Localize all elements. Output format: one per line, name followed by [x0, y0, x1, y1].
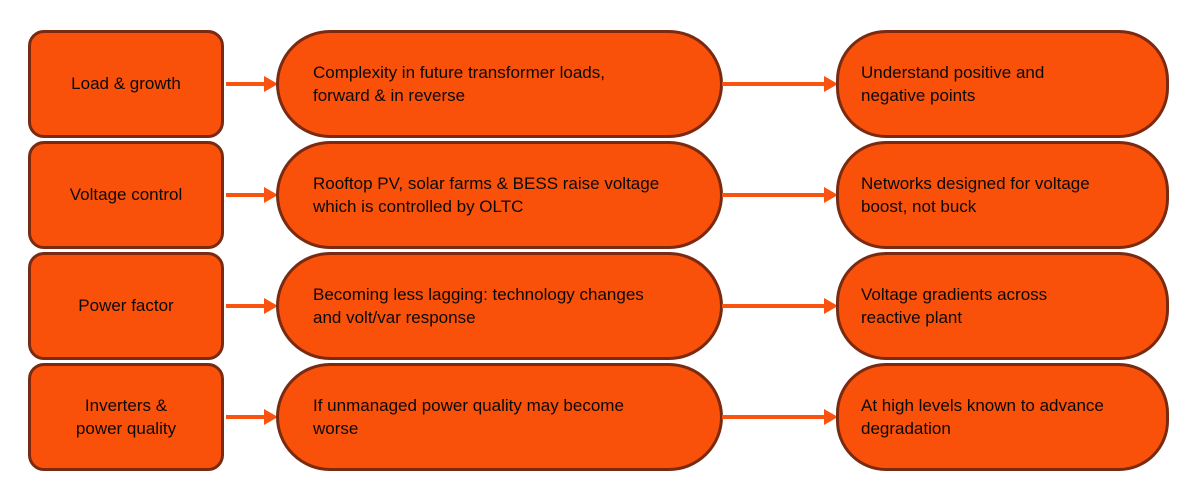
impact-node-3[interactable]: Voltage gradients across reactive plant — [836, 252, 1169, 360]
arrow-right-icon-4a — [226, 407, 278, 427]
category-node-2[interactable]: Voltage control — [28, 141, 224, 249]
arrow-right-icon-4b — [722, 407, 838, 427]
impact-node-4[interactable]: At high levels known to advance degradat… — [836, 363, 1169, 471]
issue-node-1[interactable]: Complexity in future transformer loads, … — [276, 30, 723, 138]
impact-node-2[interactable]: Networks designed for voltage boost, not… — [836, 141, 1169, 249]
arrow-right-icon-3a — [226, 296, 278, 316]
process-diagram: Load & growth Complexity in future trans… — [0, 0, 1198, 503]
arrow-right-icon-2a — [226, 185, 278, 205]
category-node-1[interactable]: Load & growth — [28, 30, 224, 138]
category-node-3[interactable]: Power factor — [28, 252, 224, 360]
category-node-4[interactable]: Inverters & power quality — [28, 363, 224, 471]
arrow-right-icon-1a — [226, 74, 278, 94]
issue-node-4[interactable]: If unmanaged power quality may become wo… — [276, 363, 723, 471]
issue-node-2[interactable]: Rooftop PV, solar farms & BESS raise vol… — [276, 141, 723, 249]
impact-node-1[interactable]: Understand positive and negative points — [836, 30, 1169, 138]
arrow-right-icon-3b — [722, 296, 838, 316]
arrow-right-icon-1b — [722, 74, 838, 94]
issue-node-3[interactable]: Becoming less lagging: technology change… — [276, 252, 723, 360]
arrow-right-icon-2b — [722, 185, 838, 205]
